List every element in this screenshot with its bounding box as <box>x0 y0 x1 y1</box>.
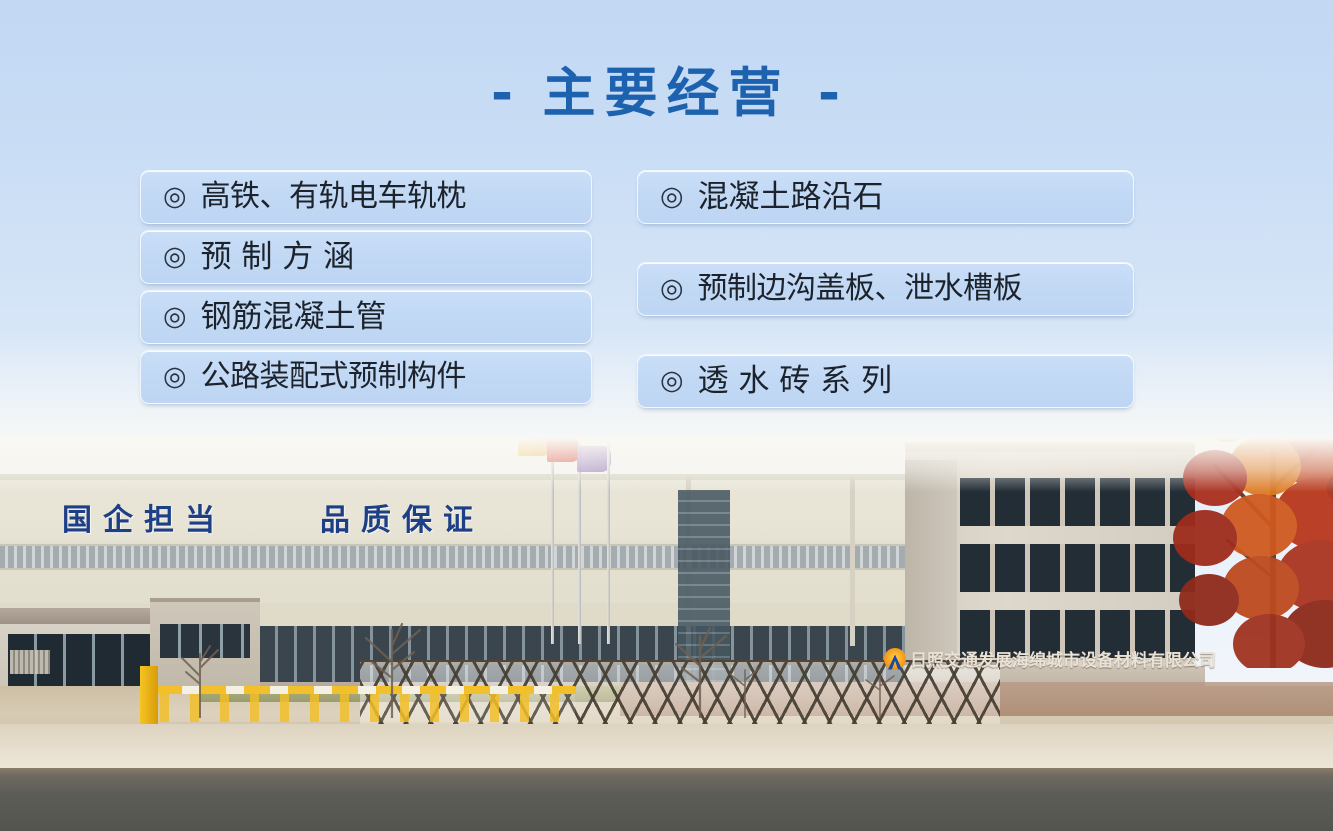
list-item[interactable]: ◎ 高铁、有轨电车轨枕 <box>140 170 592 224</box>
list-item[interactable]: ◎ 预 制 方 涵 <box>140 230 592 284</box>
list-item[interactable]: ◎ 混凝土路沿石 <box>637 170 1134 224</box>
list-item-label: 高铁、有轨电车轨枕 <box>201 182 467 212</box>
list-item[interactable]: ◎ 公路装配式预制构件 <box>140 350 592 404</box>
list-item-label: 透 水 砖 系 列 <box>698 366 892 397</box>
list-item-label: 预制边沟盖板、泄水槽板 <box>698 274 1023 304</box>
factory-roofline <box>0 474 950 480</box>
circle-bullet-icon: ◎ <box>660 183 684 210</box>
page-title-text: - 主要经营 - <box>491 66 842 122</box>
page-title: - 主要经营 - <box>0 66 1333 122</box>
title-main: 主要经营 <box>543 63 791 124</box>
service-list-left: ◎ 高铁、有轨电车轨枕 ◎ 预 制 方 涵 ◎ 钢筋混凝土管 ◎ 公路装配式预制… <box>140 170 592 410</box>
circle-bullet-icon: ◎ <box>163 243 187 270</box>
service-list-right: ◎ 混凝土路沿石 ◎ 预制边沟盖板、泄水槽板 ◎ 透 水 砖 系 列 <box>637 170 1134 414</box>
list-item-label: 钢筋混凝土管 <box>201 302 387 333</box>
list-item-label: 公路装配式预制构件 <box>201 362 467 392</box>
factory-photo: 国企担当 品质保证 日照交通发展海绵城市设备材料有限公司 <box>0 438 1333 831</box>
list-item[interactable]: ◎ 预制边沟盖板、泄水槽板 <box>637 262 1134 316</box>
list-item[interactable]: ◎ 钢筋混凝土管 <box>140 290 592 344</box>
facade-slogan-left: 国企担当 <box>62 495 226 539</box>
circle-bullet-icon: ◎ <box>660 367 684 394</box>
asphalt-road <box>0 768 1333 831</box>
circle-bullet-icon: ◎ <box>163 183 187 210</box>
circle-bullet-icon: ◎ <box>660 275 684 302</box>
flag-purple <box>577 446 611 472</box>
office-window-row <box>960 478 1195 526</box>
poster-root: - 主要经营 - ◎ 高铁、有轨电车轨枕 ◎ 预 制 方 涵 ◎ 钢筋混凝土管 … <box>0 0 1333 831</box>
list-item-label: 混凝土路沿石 <box>698 182 884 213</box>
title-dash-left: - <box>491 63 515 124</box>
spacer <box>637 322 1134 354</box>
list-item-label: 预 制 方 涵 <box>201 242 355 273</box>
flag-red <box>547 438 581 462</box>
spacer <box>637 230 1134 262</box>
office-roof <box>905 442 1195 452</box>
list-item[interactable]: ◎ 透 水 砖 系 列 <box>637 354 1134 408</box>
circle-bullet-icon: ◎ <box>163 303 187 330</box>
bare-trees <box>0 558 1333 718</box>
circle-bullet-icon: ◎ <box>163 363 187 390</box>
facade-slogan-right: 品质保证 <box>320 495 484 539</box>
title-dash-right: - <box>818 63 842 124</box>
